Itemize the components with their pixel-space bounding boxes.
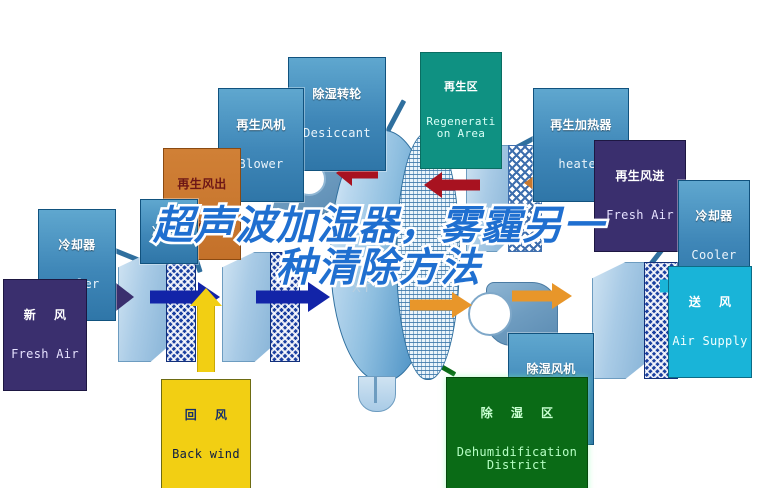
label-en: Fresh Air [597,209,683,222]
label-regeneration-area[interactable]: 再生区 Regenerati on Area [420,52,502,169]
label-fresh-air[interactable]: 新 风 Fresh Air [3,279,87,391]
label-en: Cooler [681,249,747,262]
label-cn: 再生风机 [221,119,301,132]
label-cn: 再生区 [423,81,499,93]
label-en: Air Supply [671,335,749,348]
arrow-head [424,172,442,198]
label-cn: 冷却器 [41,239,113,252]
arrow-head [452,292,472,318]
label-cn: 冷却器 [143,226,195,238]
label-en: Back wind [164,448,248,461]
label-en: Dehumidification District [449,446,585,472]
diagram-canvas: XT [0,0,757,488]
flow-arrow-process-2 [256,283,330,311]
label-cn: 冷却器 [681,210,747,223]
arrow-shaft [512,291,552,302]
flow-arrow-blower-out [512,283,572,309]
flow-arrow-back-wind-up [190,288,222,372]
label-cn: 送 风 [671,296,749,309]
flow-arrow-regen-hot-in-2 [424,172,480,198]
label-cn: 再生加热器 [536,119,626,132]
arrow-shaft [197,304,215,372]
arrow-head [116,283,134,311]
rotor-foot [358,376,396,412]
label-en: Fresh Air [6,348,84,361]
label-back-wind[interactable]: 回 风 Back wind [161,379,251,488]
arrow-shaft [410,300,452,311]
label-cn: 再生风进 [597,170,683,183]
flow-arrow-dry-air-out [410,292,472,318]
label-en: Desiccant [291,127,383,140]
label-cn: 新 风 [6,309,84,322]
label-cn: 除 湿 区 [449,407,585,420]
label-air-supply[interactable]: 送 风 Air Supply [668,266,752,378]
label-cn: 除湿转轮 [291,88,383,101]
dehum-blower-hub [468,292,512,336]
label-cn: 再生风出 [166,178,238,191]
label-cn: 回 风 [164,409,248,422]
label-cn: 除湿风机 [511,363,591,376]
arrow-head [552,283,572,309]
label-cooler-left-secondary[interactable]: 冷却器 [140,199,198,264]
label-en: Regenerati on Area [423,116,499,140]
arrow-head [190,288,222,306]
label-regeneration-fresh-air[interactable]: 再生风进 Fresh Air [594,140,686,252]
label-dehumidification-district[interactable]: 除 湿 区 Dehumidification District [446,377,588,488]
arrow-shaft [256,291,308,304]
arrow-head [308,282,330,312]
arrow-shaft [440,180,480,191]
coil-3-body [592,262,646,379]
rotor-honeycomb-face [396,132,460,380]
rotor-watermark: XT [352,280,373,295]
